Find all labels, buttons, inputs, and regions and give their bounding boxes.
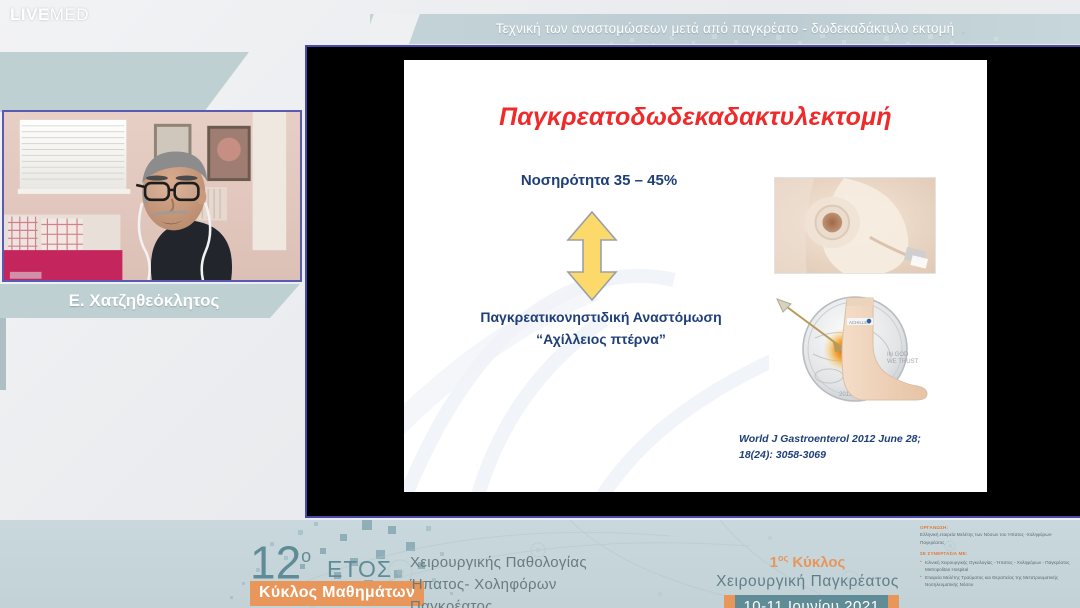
citation-line-1: World J Gastroenterol 2012 June 28; [739, 432, 969, 448]
svg-text:WE TRUST: WE TRUST [887, 359, 919, 365]
livemed-logo: LIVEMED [10, 5, 89, 25]
speaker-panel-backdrop [0, 52, 300, 112]
course-subject: Χειρουργικής Παθολογίας Ήπατος- Χοληφόρω… [410, 552, 587, 608]
course-series-badge: Κύκλος Μαθημάτων [250, 581, 424, 606]
partner-item: Εταιρεία Μελέτης Τραύματος και Θεραπείας… [920, 574, 1075, 589]
anastomosis-line-2: “Αχίλλειος πτέρνα” [416, 329, 786, 351]
speaker-name-bar: Ε. Χατζηθεόκλητος [0, 284, 300, 318]
logo-strong: LIVE [10, 5, 50, 24]
svg-text:IN GOD: IN GOD [887, 352, 909, 358]
speaker-name: Ε. Χατζηθεόκλητος [0, 284, 288, 318]
cycle-ordinal: ος [778, 553, 788, 563]
cycle-number: 1 [770, 554, 778, 571]
slide-citation: World J Gastroenterol 2012 June 28; 18(2… [739, 432, 969, 464]
organizer-heading: ΟΡΓΑΝΩΣΗ: [920, 524, 1075, 531]
achilles-heel-coin-image: IN GOD WE TRUST 2015 ACHILLES [769, 292, 941, 405]
anastomosis-line-1: Παγκρεατικονηστιδική Αναστόμωση [416, 307, 786, 329]
webcam-image [4, 112, 300, 282]
slide-canvas: Παγκρεατοδωδεκαδακτυλεκτομή Νοσηρότητα 3… [404, 60, 987, 492]
edition-year-word: ΕΤΟΣ [327, 556, 392, 583]
year-ordinal: ο [301, 546, 311, 566]
edition-year-number: 12ο [250, 534, 311, 584]
app-background: LIVEMED Τεχνι [0, 0, 1080, 608]
slide-morbidity-text: Νοσηρότητα 35 – 45% [434, 172, 764, 189]
subject-line-2: Ήπατος- Χοληφόρων [410, 574, 587, 596]
subject-line-1: Χειρουργικής Παθολογίας [410, 552, 587, 574]
partners-list: Κλινική Χειρουργικής Ογκολογίας - Ήπατος… [920, 559, 1075, 589]
date-cap-left [724, 595, 735, 608]
presentation-title-banner: Τεχνική των αναστομώσεων μετά από παγκρέ… [370, 14, 1080, 44]
double-headed-vertical-arrow-icon [564, 210, 620, 302]
left-accent-strip [0, 310, 6, 390]
presentation-title: Τεχνική των αναστομώσεων μετά από παγκρέ… [370, 14, 1080, 44]
speaker-video[interactable] [2, 110, 302, 282]
organizers-block: ΟΡΓΑΝΩΣΗ: Ελληνική εταιρεία Μελέτης των … [920, 524, 1075, 589]
organizer-name: Ελληνική εταιρεία Μελέτης των Νόσων του … [920, 531, 1075, 546]
event-date-block: 10-11 Ιουνίου 2021 [724, 595, 899, 608]
slide-title: Παγκρεατοδωδεκαδακτυλεκτομή [404, 103, 987, 132]
cycle-label: 1ος Κύκλος [700, 553, 915, 571]
cycle-subject: Χειρουργική Παγκρέατος [690, 573, 925, 591]
presentation-stage[interactable]: Παγκρεατοδωδεκαδακτυλεκτομή Νοσηρότητα 3… [305, 45, 1080, 518]
date-cap-right [888, 595, 899, 608]
clinical-photo-graphic [775, 178, 935, 274]
citation-line-2: 18(24): 3058-3069 [739, 448, 969, 464]
partners-heading: ΣΕ ΣΥΝΕΡΓΑΣΙΑ ΜΕ: [920, 550, 1075, 557]
cycle-word: Κύκλος [792, 554, 845, 571]
logo-light: MED [50, 5, 89, 24]
event-footer: 12ο ΕΤΟΣ Κύκλος Μαθημάτων Χειρουργικής Π… [0, 520, 1080, 608]
achilles-heel-coin-graphic: IN GOD WE TRUST 2015 ACHILLES [769, 292, 941, 405]
slide-anastomosis-text: Παγκρεατικονηστιδική Αναστόμωση “Αχίλλει… [416, 307, 786, 350]
partner-item: Κλινική Χειρουργικής Ογκολογίας - Ήπατος… [920, 559, 1075, 574]
clinical-photo-image [774, 177, 936, 274]
subject-line-3: Παγκρέατος [410, 596, 587, 608]
event-date: 10-11 Ιουνίου 2021 [735, 595, 888, 608]
